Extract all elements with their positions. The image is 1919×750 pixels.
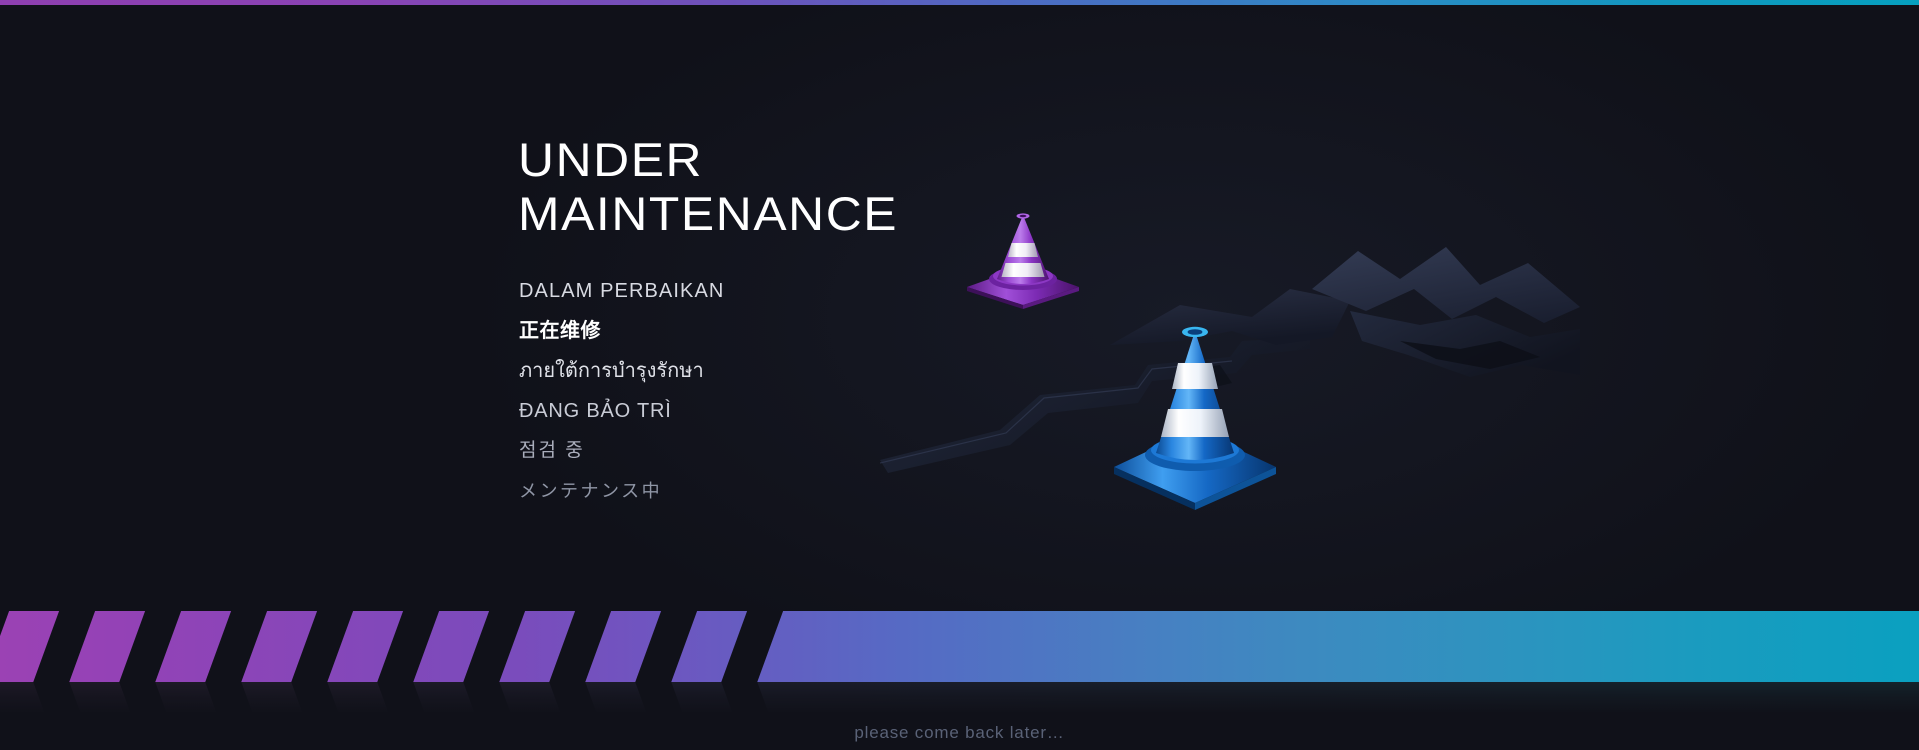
headline-line-2: MAINTENANCE [518, 187, 1324, 241]
cone-band-lower [1002, 263, 1045, 277]
page-title: UNDER MAINTENANCE [518, 133, 1278, 241]
cone-body [1156, 331, 1234, 460]
hazard-stripe-notch [459, 611, 528, 682]
headline-line-1: UNDER [518, 133, 1324, 187]
translation-chinese: 正在维修 [519, 311, 724, 351]
translation-vietnamese: ĐANG BẢO TRÌ [519, 391, 724, 431]
hazard-stripe-notch [545, 611, 614, 682]
hazard-stripe-notch [631, 611, 700, 682]
cone-tip-hole [1188, 329, 1203, 335]
hazard-stripe-notch [115, 611, 184, 682]
maintenance-stage: UNDER MAINTENANCE DALAM PERBAIKAN 正在维修 ภ… [0, 5, 1919, 750]
translation-korean: 점검 중 [519, 431, 724, 471]
translation-thai: ภายใต้การบำรุงรักษา [519, 351, 724, 391]
cone-band-upper [1172, 363, 1218, 389]
cone-band-upper [1008, 243, 1038, 257]
footer-note: please come back later… [0, 723, 1919, 743]
traffic-cone-blue-icon [1108, 317, 1283, 512]
translation-japanese: メンテナンス中 [519, 471, 724, 511]
translation-indonesian: DALAM PERBAIKAN [519, 271, 724, 311]
hazard-stripe-notch [373, 611, 442, 682]
hazard-stripe-notch [29, 611, 98, 682]
hazard-stripe-notches [0, 611, 1919, 682]
hazard-stripe-band [0, 611, 1919, 682]
hazard-stripe-notch [717, 611, 786, 682]
cone-band-lower [1161, 409, 1229, 437]
hazard-stripe-notch [201, 611, 270, 682]
hazard-reflection-fade [0, 682, 1919, 714]
hazard-stripe-notch [287, 611, 356, 682]
translation-list: DALAM PERBAIKAN 正在维修 ภายใต้การบำรุงรักษา… [519, 271, 724, 511]
hazard-stripe-notch [0, 611, 13, 682]
